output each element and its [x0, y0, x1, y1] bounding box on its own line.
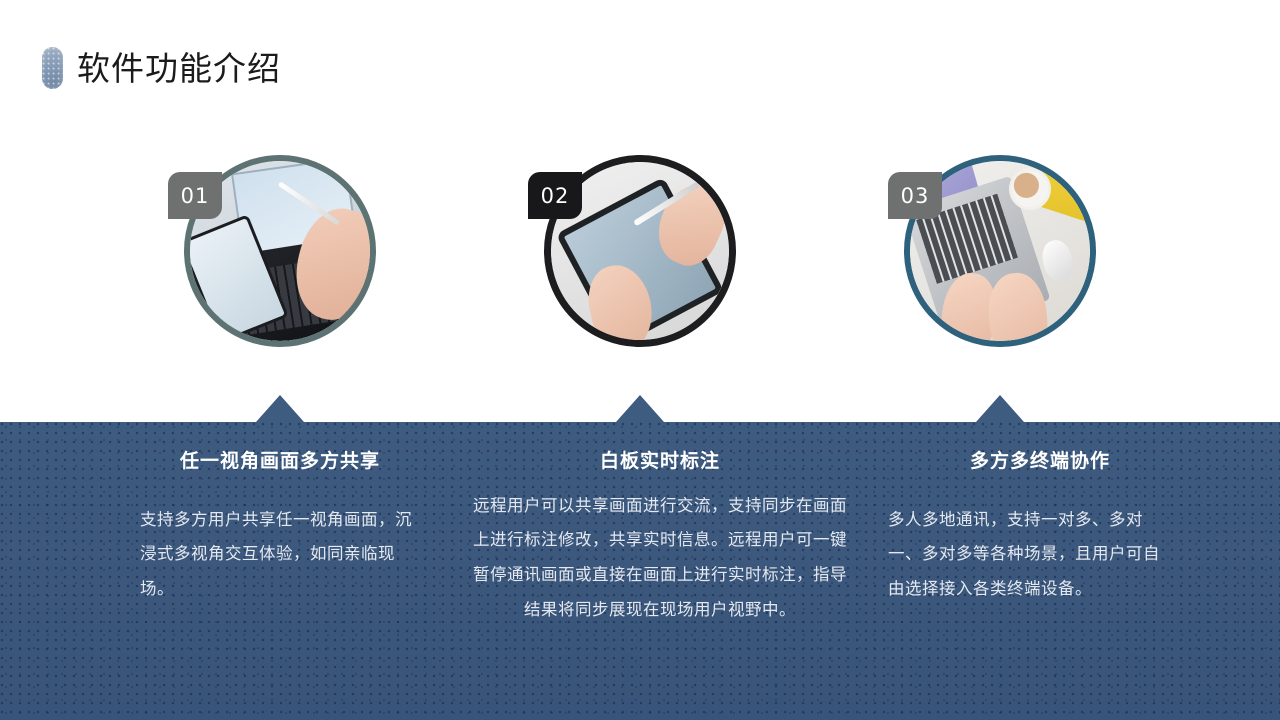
panel-pointer-2	[616, 395, 664, 422]
page-title: 软件功能介绍	[77, 52, 281, 85]
panel-pointer-1	[256, 395, 304, 422]
feature-number-badge-2: 02	[528, 172, 582, 219]
feature-text-columns: 任一视角画面多方共享 支持多方用户共享任一视角画面，沉浸式多视角交互体验，如同亲…	[0, 422, 1280, 720]
feature-text-1: 任一视角画面多方共享 支持多方用户共享任一视角画面，沉浸式多视角交互体验，如同亲…	[100, 422, 460, 720]
header-accent-pill	[42, 47, 63, 89]
feature-description-panel: 任一视角画面多方共享 支持多方用户共享任一视角画面，沉浸式多视角交互体验，如同亲…	[0, 422, 1280, 720]
feature-body-3: 多人多地通讯，支持一对多、多对一、多对多等各种场景，且用户可自由选择接入各类终端…	[860, 503, 1220, 607]
feature-circle-1[interactable]: 01	[184, 155, 376, 347]
feature-text-3: 多方多终端协作 多人多地通讯，支持一对多、多对一、多对多等各种场景，且用户可自由…	[860, 422, 1220, 720]
feature-number-badge-1: 01	[168, 172, 222, 219]
feature-body-1: 支持多方用户共享任一视角画面，沉浸式多视角交互体验，如同亲临现场。	[100, 503, 460, 607]
feature-title-2: 白板实时标注	[460, 450, 860, 473]
feature-circle-3[interactable]: 03	[904, 155, 1096, 347]
feature-title-1: 任一视角画面多方共享	[100, 450, 460, 473]
feature-body-2: 远程用户可以共享画面进行交流，支持同步在画面上进行标注修改，共享实时信息。远程用…	[460, 489, 860, 628]
feature-text-2: 白板实时标注 远程用户可以共享画面进行交流，支持同步在画面上进行标注修改，共享实…	[460, 422, 860, 720]
feature-title-3: 多方多终端协作	[860, 450, 1220, 473]
slide-header: 软件功能介绍	[42, 42, 281, 94]
panel-pointer-3	[976, 395, 1024, 422]
feature-circle-2[interactable]: 02	[544, 155, 736, 347]
feature-image-row: 01 02	[0, 155, 1280, 355]
feature-number-badge-3: 03	[888, 172, 942, 219]
